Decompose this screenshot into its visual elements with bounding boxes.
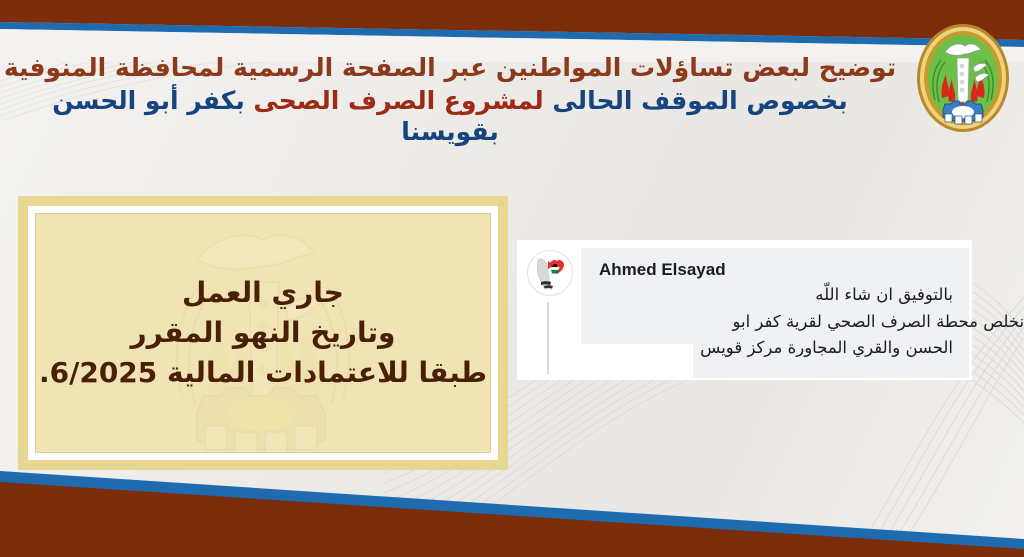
comment-author-name[interactable]: Ahmed Elsayad	[599, 260, 726, 280]
status-card: جاري العمل وتاريخ النهو المقرر طبقا للاع…	[18, 196, 508, 470]
status-card-line3: طبقا للاعتمادات المالية 6/2025.	[39, 353, 487, 393]
page-title-line2-part2: لمشروع الصرف الصحى	[253, 86, 543, 115]
avatar[interactable]	[527, 250, 573, 296]
page-title-line1: توضيح لبعض تساؤلات المواطنين عبر الصفحة …	[0, 52, 900, 84]
status-card-line2: وتاريخ النهو المقرر	[131, 313, 396, 353]
emblem-icon	[915, 22, 1011, 134]
slide-canvas: توضيح لبعض تساؤلات المواطنين عبر الصفحة …	[0, 0, 1024, 557]
page-title-line2: بخصوص الموقف الحالى لمشروع الصرف الصحى ب…	[0, 85, 900, 148]
status-card-line1: جاري العمل	[182, 273, 344, 313]
comment-line-2: يا ريت نخلص محطة الصرف الصحي لقرية كفر ا…	[581, 309, 1024, 336]
governorate-emblem	[915, 22, 1011, 134]
comment-thread-line	[547, 302, 549, 374]
status-card-inner: جاري العمل وتاريخ النهو المقرر طبقا للاع…	[28, 206, 498, 460]
comment-line-1: بالتوفيق ان شاء اللّه	[581, 282, 953, 309]
palestine-heart-avatar-icon	[528, 251, 572, 295]
comment-screenshot: Ahmed Elsayad بالتوفيق ان شاء اللّه يا ر…	[517, 240, 972, 380]
page-title-line2-part1: بخصوص الموقف الحالى	[552, 86, 847, 115]
page-title: توضيح لبعض تساؤلات المواطنين عبر الصفحة …	[0, 52, 900, 148]
comment-occlusion-patch	[573, 344, 693, 378]
status-card-text: جاري العمل وتاريخ النهو المقرر طبقا للاع…	[35, 213, 491, 453]
